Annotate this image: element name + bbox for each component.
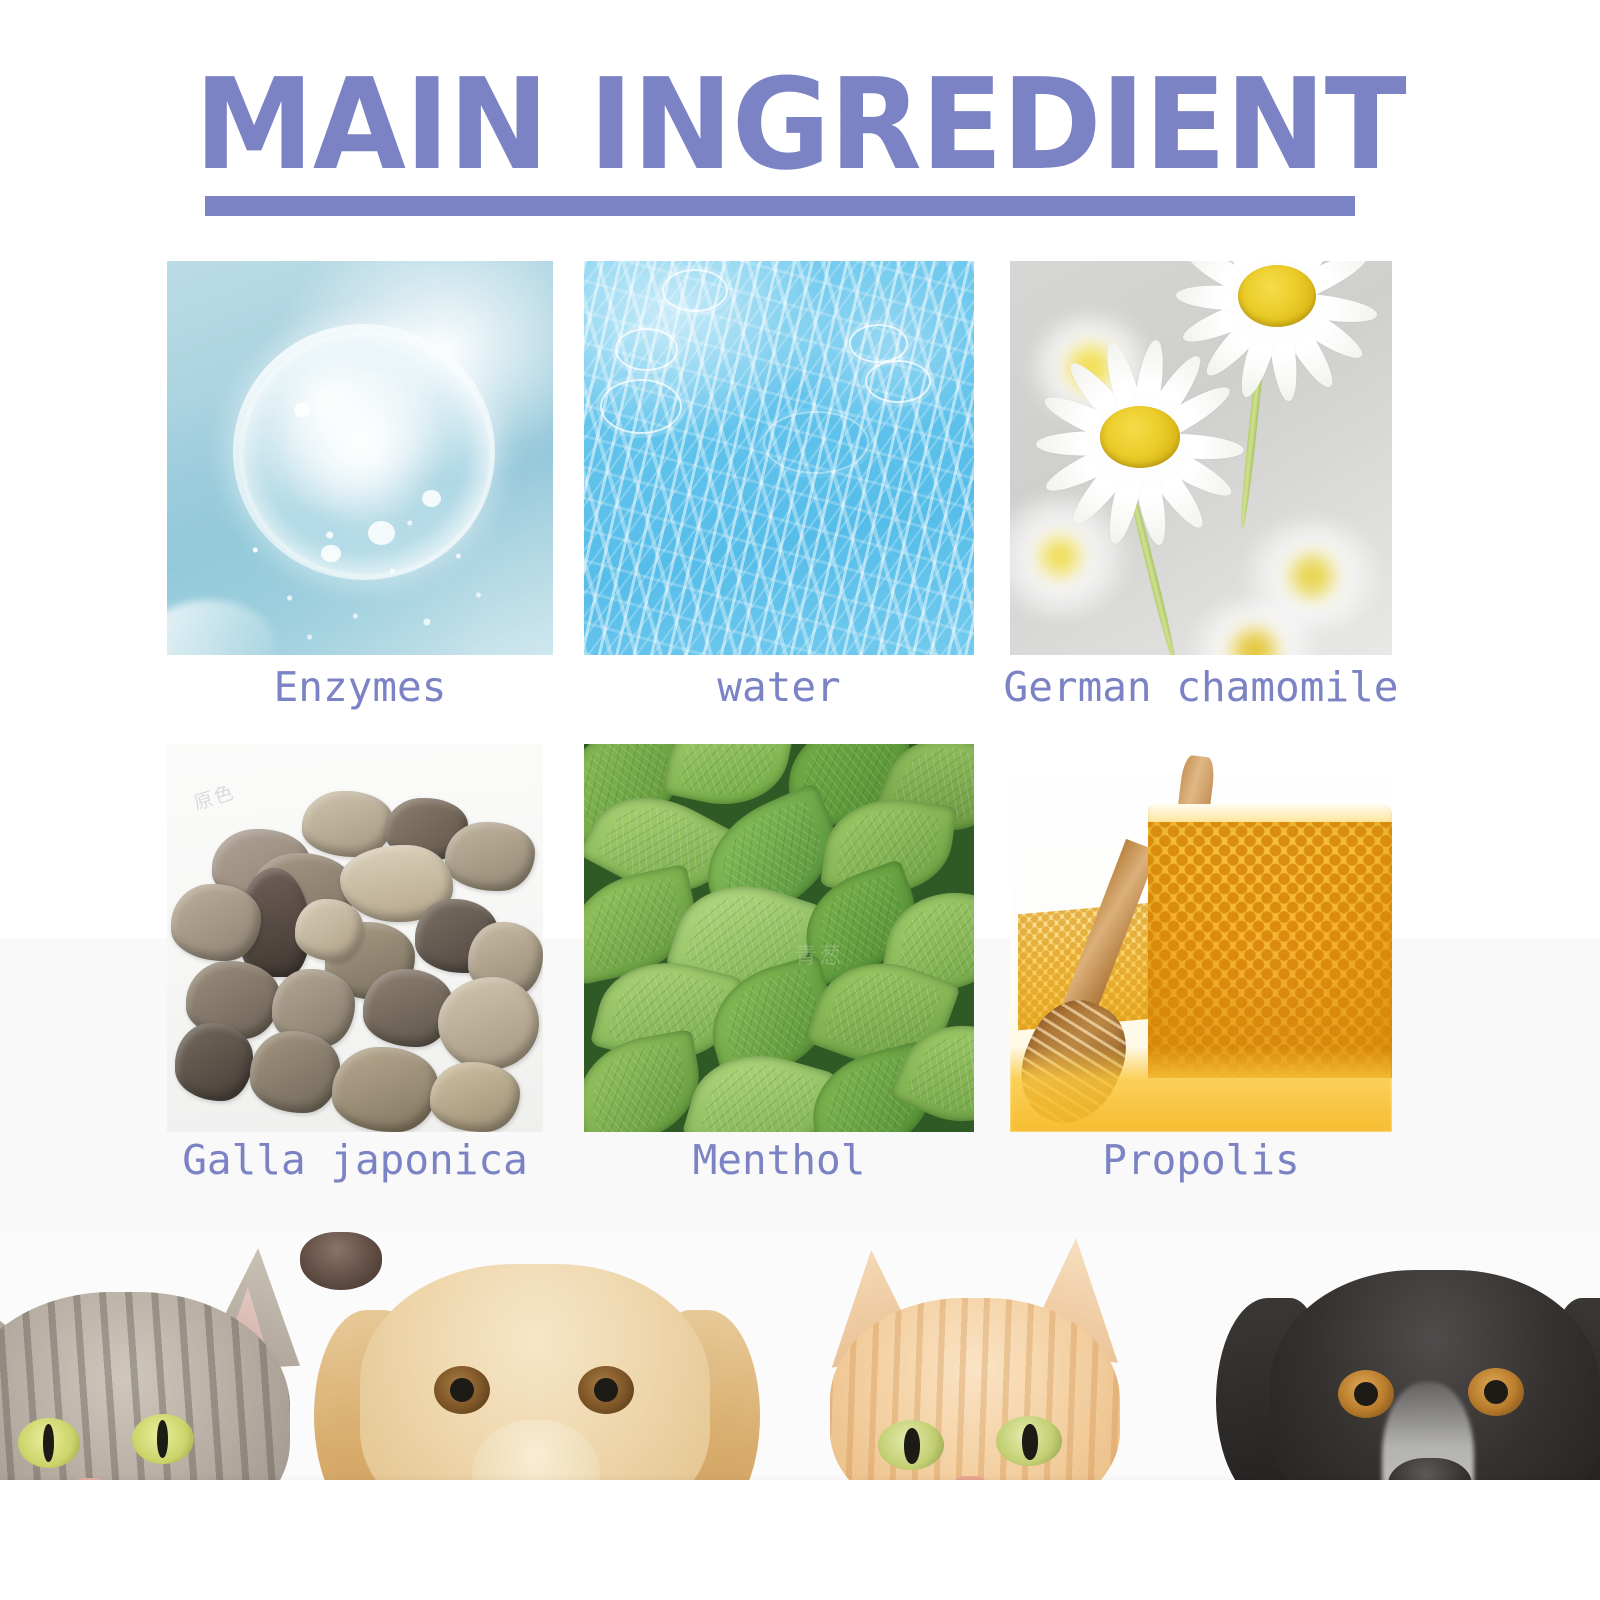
herb-icon: 原色 [167,744,543,1132]
ingredient-card-propolis[interactable]: Propolis [1010,744,1392,1132]
ingredient-card-enzymes[interactable]: Enzymes [167,261,553,655]
flower-icon [1010,261,1392,655]
ingredient-label: Propolis [950,1136,1452,1184]
pet-banner-strip [0,1232,1600,1600]
ingredient-label: German chamomile [950,663,1452,711]
enzyme-icon [167,261,553,655]
ingredient-card-menthol[interactable]: 青葱 Menthol [584,744,974,1132]
ingredient-card-galla-japonica[interactable]: 原色 Galla japonica [167,744,543,1132]
water-icon [584,261,974,655]
ingredient-card-german-chamomile[interactable]: German chamomile [1010,261,1392,655]
ingredient-grid: Enzymes water [0,0,1600,1232]
leaf-icon: 青葱 [584,744,974,1132]
ingredient-card-water[interactable]: water [584,261,974,655]
white-banner-ledge [0,1480,1600,1600]
honey-icon [1010,744,1392,1132]
